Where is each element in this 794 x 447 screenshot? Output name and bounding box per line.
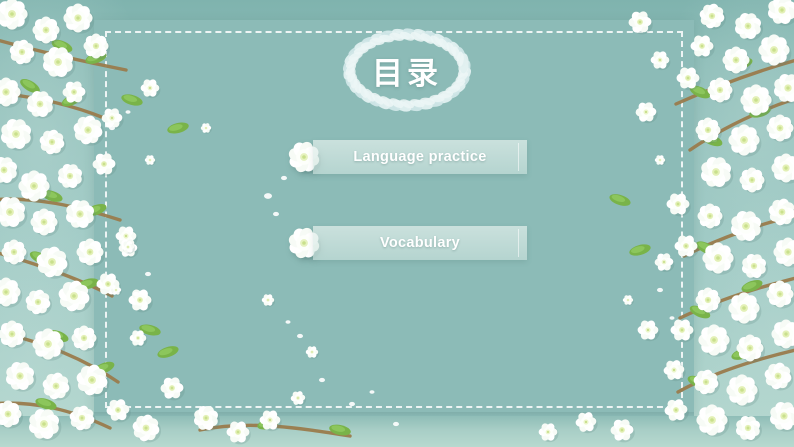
contents-menu: Language practice Vocabulary <box>0 0 794 447</box>
menu-item-label: Vocabulary <box>313 226 527 260</box>
menu-item-vocabulary[interactable]: Vocabulary <box>287 226 527 260</box>
presentation-slide: 目录 Language practice Vocabulary <box>0 0 794 447</box>
menu-item-language-practice[interactable]: Language practice <box>287 140 527 174</box>
menu-item-label: Language practice <box>313 140 527 174</box>
